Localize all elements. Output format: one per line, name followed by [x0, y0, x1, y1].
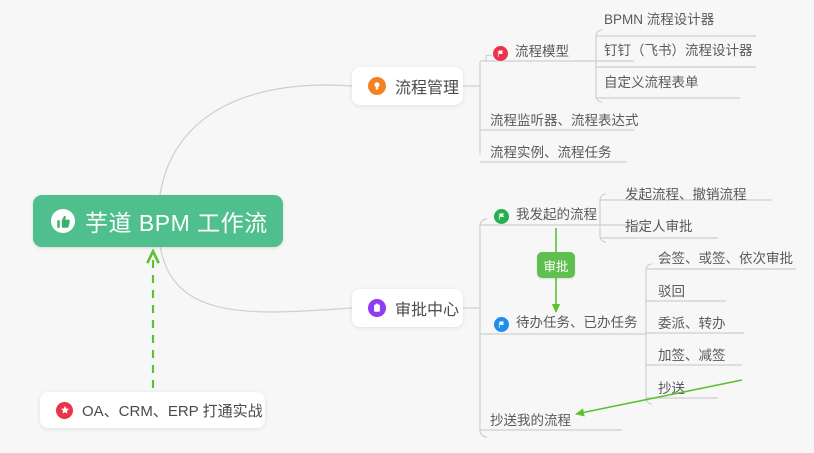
- branch-card-process-management[interactable]: 流程管理: [352, 67, 463, 105]
- node-delegate-transfer[interactable]: 委派、转办: [658, 315, 726, 334]
- flag-green-icon: [494, 209, 509, 224]
- node-process-listener[interactable]: 流程监听器、流程表达式: [490, 112, 639, 131]
- node-label: 委派、转办: [658, 315, 726, 334]
- node-label: 加签、减签: [658, 347, 726, 366]
- node-custom-form[interactable]: 自定义流程表单: [604, 74, 699, 93]
- thumbs-up-icon: [51, 209, 75, 233]
- node-label: BPMN 流程设计器: [604, 11, 714, 30]
- star-icon: [56, 402, 73, 419]
- root-node[interactable]: 芋道 BPM 工作流: [33, 195, 283, 247]
- node-reject[interactable]: 驳回: [658, 283, 685, 302]
- node-process-model[interactable]: 流程模型: [493, 43, 569, 62]
- node-my-initiated[interactable]: 我发起的流程: [494, 206, 597, 225]
- node-assignee-approval[interactable]: 指定人审批: [625, 218, 693, 237]
- node-bpmn-designer[interactable]: BPMN 流程设计器: [604, 11, 714, 30]
- mindmap-canvas: 芋道 BPM 工作流 流程管理 审批中心 流程模型 BPMN 流程: [0, 0, 814, 453]
- clipboard-icon: [368, 299, 386, 317]
- node-label: 驳回: [658, 283, 685, 302]
- node-process-instance[interactable]: 流程实例、流程任务: [490, 144, 612, 163]
- node-label: 抄送我的流程: [490, 412, 571, 431]
- approval-tag[interactable]: 审批: [537, 252, 575, 278]
- node-label: 我发起的流程: [516, 206, 597, 225]
- node-todo-done-tasks[interactable]: 待办任务、已办任务: [494, 314, 638, 333]
- node-label: 自定义流程表单: [604, 74, 699, 93]
- node-dingtalk-designer[interactable]: 钉钉（飞书）流程设计器: [604, 42, 753, 61]
- node-label: 流程模型: [515, 43, 569, 62]
- root-label: 芋道 BPM 工作流: [85, 204, 268, 238]
- node-label: 流程实例、流程任务: [490, 144, 612, 163]
- branch-label-approval-center: 审批中心: [395, 296, 459, 320]
- node-label: 指定人审批: [625, 218, 693, 237]
- node-start-cancel-process[interactable]: 发起流程、撤销流程: [625, 186, 747, 205]
- node-cc-to-me[interactable]: 抄送我的流程: [490, 412, 571, 431]
- node-label: 抄送: [658, 380, 685, 399]
- node-cc[interactable]: 抄送: [658, 380, 685, 399]
- node-label: 流程监听器、流程表达式: [490, 112, 639, 131]
- node-label: 待办任务、已办任务: [516, 314, 638, 333]
- node-label: 发起流程、撤销流程: [625, 186, 747, 205]
- node-label: 钉钉（飞书）流程设计器: [604, 42, 753, 61]
- flag-blue-icon: [494, 317, 509, 332]
- integration-card[interactable]: OA、CRM、ERP 打通实战: [40, 392, 265, 428]
- integration-card-label: OA、CRM、ERP 打通实战: [82, 400, 263, 421]
- node-add-remove-sign[interactable]: 加签、减签: [658, 347, 726, 366]
- node-label: 会签、或签、依次审批: [658, 250, 793, 269]
- flag-red-icon: [493, 46, 508, 61]
- branch-label-process-management: 流程管理: [395, 74, 459, 98]
- location-pin-icon: [368, 77, 386, 95]
- node-countersign[interactable]: 会签、或签、依次审批: [658, 250, 793, 269]
- branch-card-approval-center[interactable]: 审批中心: [352, 289, 463, 327]
- approval-tag-label: 审批: [543, 256, 568, 275]
